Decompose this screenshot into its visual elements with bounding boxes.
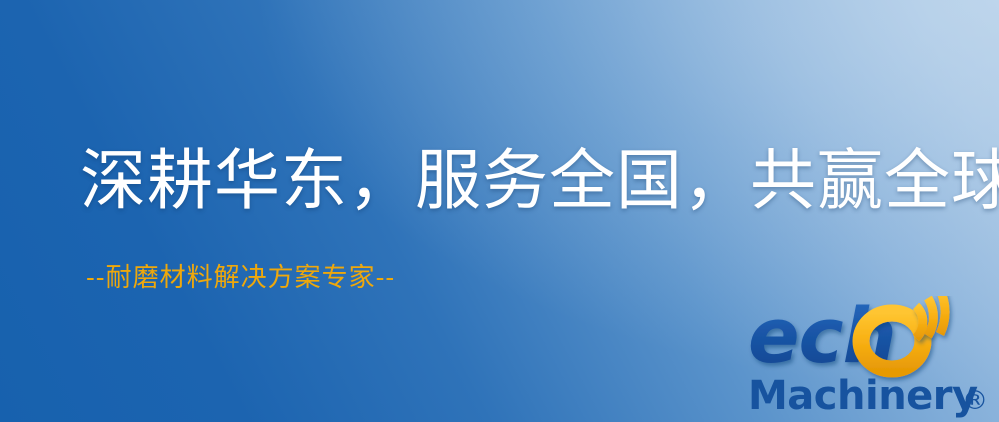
- logo-signal-arcs-shape: [916, 296, 945, 338]
- echo-machinery-logo: ech Machinery ® echo Machinery ®: [748, 296, 999, 422]
- promo-banner: 深耕华东，服务全国，共赢全球 --耐磨材料解决方案专家--: [0, 0, 999, 422]
- logo-tagline-shape: Machinery ®: [748, 373, 988, 419]
- banner-subtitle: --耐磨材料解决方案专家--: [86, 265, 395, 291]
- svg-text:®: ®: [962, 386, 988, 416]
- banner-headline: 深耕华东，服务全国，共赢全球: [80, 148, 999, 214]
- svg-text:Machinery: Machinery: [748, 373, 978, 419]
